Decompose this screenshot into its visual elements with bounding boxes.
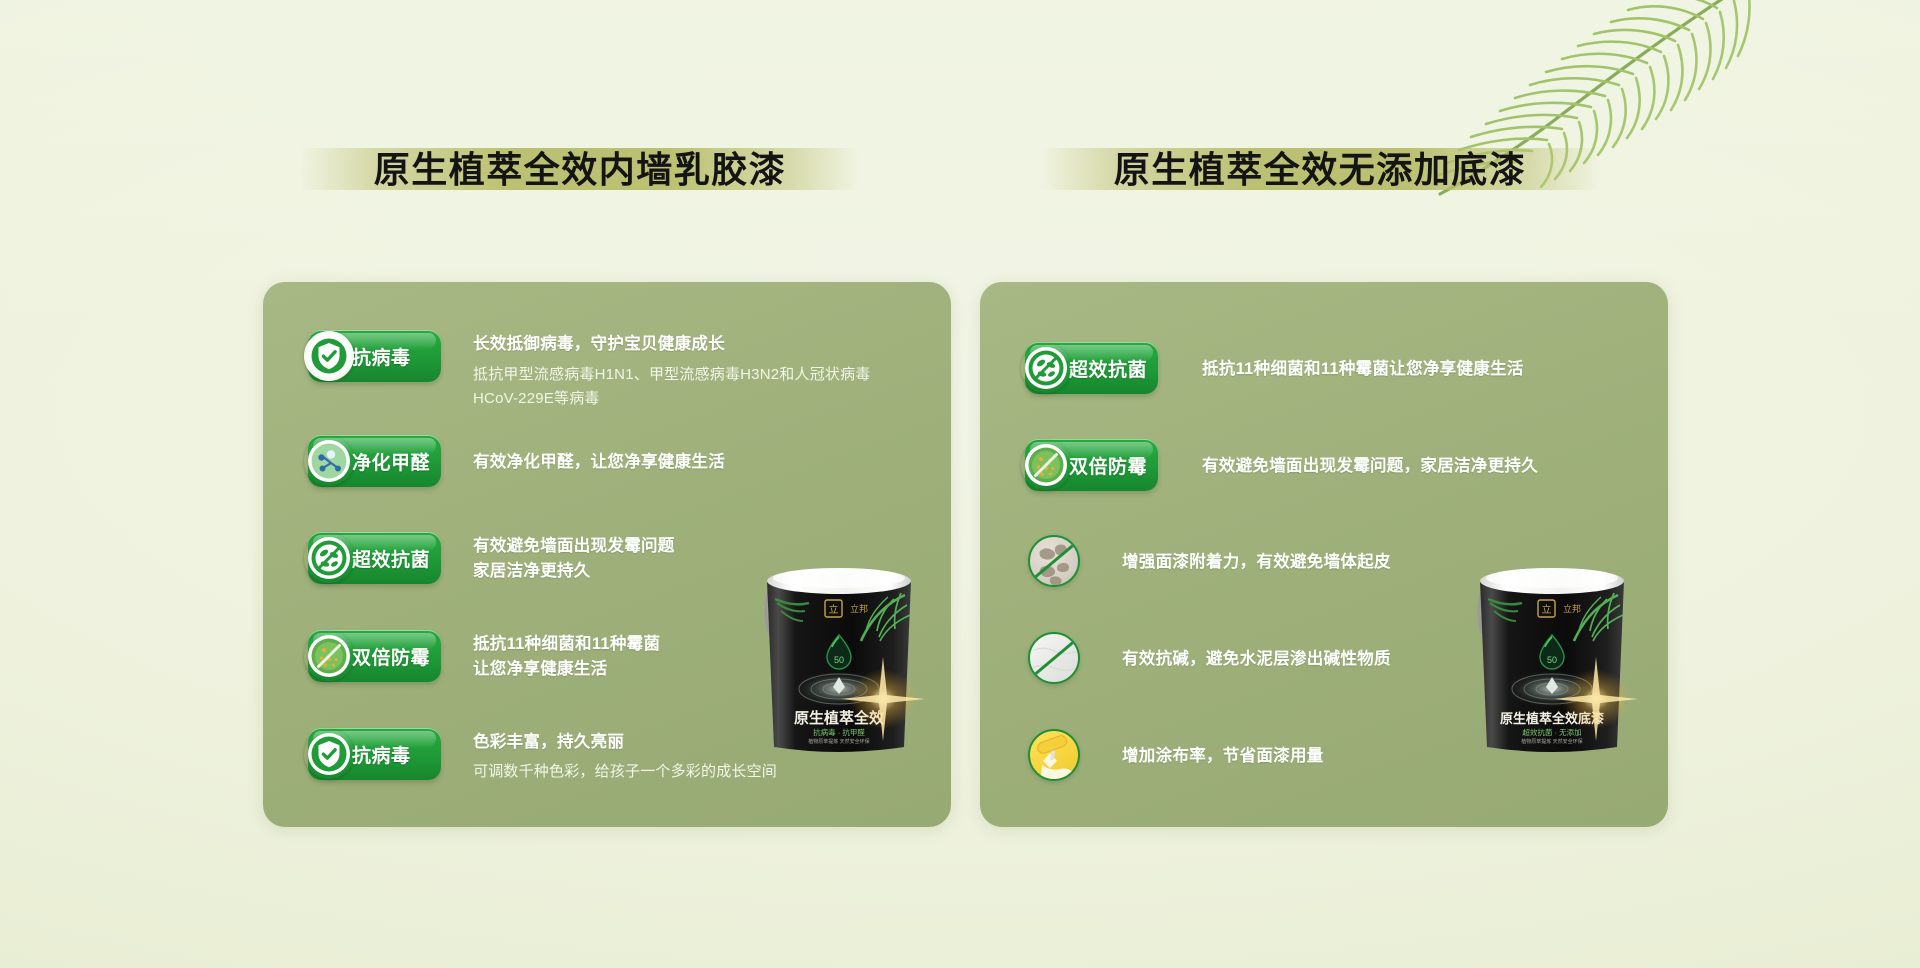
- feature-text-block: 有效净化甲醛，让您净享健康生活: [473, 435, 725, 475]
- feature-text-block: 有效避免墙面出现发霉问题，家居洁净更持久: [1202, 439, 1538, 479]
- peeling-wall-blocked-icon: [1028, 535, 1080, 587]
- badge-label: 超效抗菌: [1069, 355, 1147, 382]
- titles-row: 原生植萃全效内墙乳胶漆 原生植萃全效无添加底漆: [0, 138, 1920, 200]
- feature-row[interactable]: 净化甲醛 有效净化甲醛，让您净享健康生活: [308, 435, 725, 487]
- feature-row[interactable]: 双倍防霉 抵抗11种细菌和11种霉菌 让您净享健康生活: [308, 630, 660, 682]
- feature-subline: 可调数千种色彩，给孩子一个多彩的成长空间: [473, 760, 777, 784]
- feature-text-block: 长效抵御病毒，守护宝贝健康成长 抵抗甲型流感病毒H1N1、甲型流感病毒H3N2和…: [473, 330, 871, 411]
- badge-label: 双倍防霉: [1069, 452, 1147, 479]
- feature-text-block: 抵抗11种细菌和11种霉菌让您净享健康生活: [1202, 342, 1524, 382]
- feature-list-left: 抗病毒 长效抵御病毒，守护宝贝健康成长 抵抗甲型流感病毒H1N1、甲型流感病毒H…: [263, 282, 951, 827]
- mold-petri-icon: [304, 631, 354, 681]
- feature-list-right: 超效抗菌 抵抗11种细菌和11种霉菌让您净享健康生活: [980, 282, 1668, 827]
- title-right-text: 原生植萃全效无添加底漆: [1114, 141, 1527, 193]
- page-title-right: 原生植萃全效无添加底漆: [1040, 138, 1600, 196]
- feature-text-block: 色彩丰富，持久亮丽 可调数千种色彩，给孩子一个多彩的成长空间: [473, 728, 777, 784]
- molecule-icon: [304, 436, 354, 486]
- product-card-right: 超效抗菌 抵抗11种细菌和11种霉菌让您净享健康生活: [980, 282, 1668, 827]
- feature-headline-2: 家居洁净更持久: [473, 559, 675, 584]
- feature-text-block: 有效避免墙面出现发霉问题 家居洁净更持久: [473, 532, 675, 584]
- feature-headline: 长效抵御病毒，守护宝贝健康成长: [473, 332, 871, 357]
- feature-headline: 色彩丰富，持久亮丽: [473, 730, 777, 755]
- feature-row[interactable]: 双倍防霉 有效避免墙面出现发霉问题，家居洁净更持久: [1025, 439, 1538, 491]
- badge-antimold: 双倍防霉: [308, 630, 441, 682]
- mold-petri-icon: [1021, 440, 1071, 490]
- feature-headline: 增加涂布率，节省面漆用量: [1122, 744, 1324, 769]
- feature-headline: 增强面漆附着力，有效避免墙体起皮: [1122, 550, 1391, 575]
- badge-antivirus-2: 抗病毒: [308, 728, 441, 780]
- alkali-wall-blocked-icon: [1028, 632, 1080, 684]
- shield-check-icon: [304, 729, 354, 779]
- feature-row[interactable]: 超效抗菌 有效避免墙面出现发霉问题 家居洁净更持久: [308, 532, 675, 584]
- feature-headline-2: 让您净享健康生活: [473, 657, 660, 682]
- feature-text-block: 增加涂布率，节省面漆用量: [1122, 729, 1324, 769]
- badge-label: 净化甲醛: [352, 448, 430, 475]
- bacteria-blocked-icon: [1021, 343, 1071, 393]
- badge-label: 双倍防霉: [352, 643, 430, 670]
- paint-roller-icon: [1028, 729, 1080, 781]
- feature-row[interactable]: 抗病毒 色彩丰富，持久亮丽 可调数千种色彩，给孩子一个多彩的成长空间: [308, 728, 777, 784]
- badge-label: 抗病毒: [352, 741, 411, 768]
- badge-antibacterial: 超效抗菌: [1025, 342, 1158, 394]
- badge-antivirus: 抗病毒: [308, 330, 441, 382]
- feature-headline: 抵抗11种细菌和11种霉菌: [473, 632, 660, 657]
- feature-row[interactable]: 抗病毒 长效抵御病毒，守护宝贝健康成长 抵抗甲型流感病毒H1N1、甲型流感病毒H…: [308, 330, 871, 411]
- page-title-left: 原生植萃全效内墙乳胶漆: [300, 138, 860, 196]
- badge-antimold: 双倍防霉: [1025, 439, 1158, 491]
- shield-check-icon: [304, 331, 354, 381]
- feature-headline: 有效避免墙面出现发霉问题，家居洁净更持久: [1202, 454, 1538, 479]
- badge-formaldehyde: 净化甲醛: [308, 435, 441, 487]
- feature-subline: 抵抗甲型流感病毒H1N1、甲型流感病毒H3N2和人冠状病毒: [473, 363, 871, 387]
- feature-row[interactable]: 增强面漆附着力，有效避免墙体起皮: [1028, 535, 1391, 587]
- feature-text-block: 抵抗11种细菌和11种霉菌 让您净享健康生活: [473, 630, 660, 682]
- feature-text-block: 增强面漆附着力，有效避免墙体起皮: [1122, 535, 1391, 575]
- title-left-text: 原生植萃全效内墙乳胶漆: [374, 141, 787, 193]
- product-card-left: 抗病毒 长效抵御病毒，守护宝贝健康成长 抵抗甲型流感病毒H1N1、甲型流感病毒H…: [263, 282, 951, 827]
- feature-row[interactable]: 超效抗菌 抵抗11种细菌和11种霉菌让您净享健康生活: [1025, 342, 1524, 394]
- feature-headline: 有效抗碱，避免水泥层渗出碱性物质: [1122, 647, 1391, 672]
- feature-subline: HCoV-229E等病毒: [473, 387, 871, 411]
- feature-headline: 抵抗11种细菌和11种霉菌让您净享健康生活: [1202, 357, 1524, 382]
- feature-text-block: 有效抗碱，避免水泥层渗出碱性物质: [1122, 632, 1391, 672]
- feature-headline: 有效净化甲醛，让您净享健康生活: [473, 450, 725, 475]
- feature-row[interactable]: 增加涂布率，节省面漆用量: [1028, 729, 1324, 781]
- badge-antibacterial: 超效抗菌: [308, 532, 441, 584]
- feature-headline: 有效避免墙面出现发霉问题: [473, 534, 675, 559]
- badge-label: 超效抗菌: [352, 545, 430, 572]
- feature-row[interactable]: 有效抗碱，避免水泥层渗出碱性物质: [1028, 632, 1391, 684]
- badge-label: 抗病毒: [352, 343, 411, 370]
- bacteria-blocked-icon: [304, 533, 354, 583]
